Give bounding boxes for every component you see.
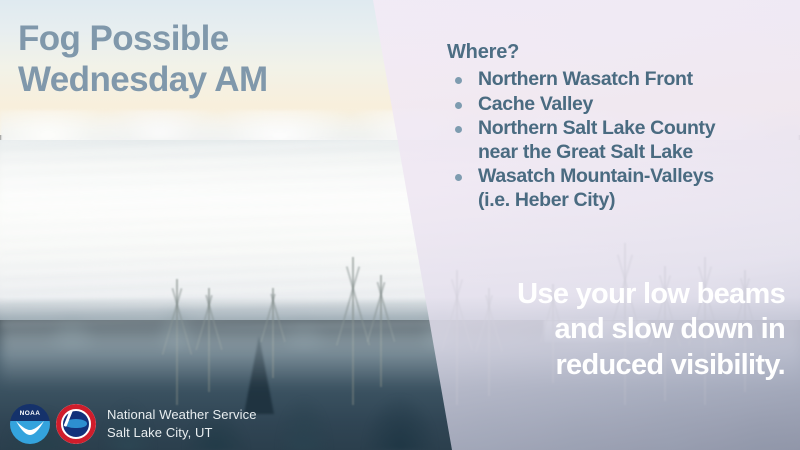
list-item: Northern Wasatch Front bbox=[447, 68, 792, 92]
noaa-logo-icon: NOAA bbox=[10, 404, 50, 444]
nws-seal-icon bbox=[56, 404, 96, 444]
page-title: Fog Possible Wednesday AM bbox=[18, 18, 368, 101]
footer: NOAA National Weather Service Salt Lake … bbox=[10, 404, 257, 444]
list-item: Northern Salt Lake County near the Great… bbox=[447, 117, 792, 164]
noaa-seagull-icon bbox=[15, 420, 45, 437]
where-heading: Where? bbox=[447, 41, 519, 64]
list-item: Cache Valley bbox=[447, 93, 792, 117]
location-line-1: Northern Salt Lake County bbox=[478, 117, 715, 139]
location-line-1: Wasatch Mountain-Valleys bbox=[478, 165, 714, 187]
footer-text: National Weather Service Salt Lake City,… bbox=[107, 406, 257, 442]
location-line-1: Cache Valley bbox=[478, 93, 593, 115]
headline-line-2: Wednesday AM bbox=[18, 59, 368, 100]
weather-graphic: Fog Possible Wednesday AM Where? Norther… bbox=[0, 0, 800, 450]
nws-seal-ring bbox=[56, 404, 96, 444]
noaa-wordmark: NOAA bbox=[10, 410, 50, 417]
safety-message: Use your low beams and slow down in redu… bbox=[445, 277, 785, 383]
safety-line-3: reduced visibility. bbox=[445, 348, 785, 383]
headline-line-1: Fog Possible bbox=[18, 18, 368, 59]
list-item: Wasatch Mountain-Valleys (i.e. Heber Cit… bbox=[447, 165, 792, 212]
location-list: Northern Wasatch Front Cache Valley Nort… bbox=[447, 68, 792, 214]
agency-name: National Weather Service bbox=[107, 406, 257, 424]
location-line-1: Northern Wasatch Front bbox=[478, 68, 693, 90]
office-location: Salt Lake City, UT bbox=[107, 424, 257, 442]
safety-line-2: and slow down in bbox=[445, 312, 785, 347]
location-line-2: (i.e. Heber City) bbox=[478, 189, 792, 213]
location-line-2: near the Great Salt Lake bbox=[478, 141, 792, 165]
safety-line-1: Use your low beams bbox=[445, 277, 785, 312]
